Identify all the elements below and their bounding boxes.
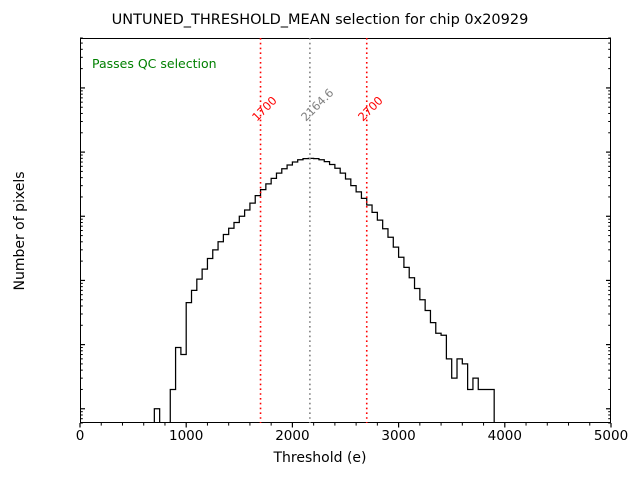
x-tick-label: 0 bbox=[76, 428, 85, 444]
x-tick-label: 5000 bbox=[594, 428, 628, 444]
qc-pass-annotation: Passes QC selection bbox=[92, 56, 217, 71]
chart-figure: UNTUNED_THRESHOLD_MEAN selection for chi… bbox=[0, 0, 640, 480]
histogram-svg bbox=[80, 38, 611, 423]
plot-area bbox=[80, 38, 611, 423]
x-tick-label: 4000 bbox=[488, 428, 522, 444]
histogram-step-line bbox=[154, 158, 494, 423]
x-tick-label: 2000 bbox=[275, 428, 309, 444]
x-tick-label: 1000 bbox=[169, 428, 203, 444]
x-axis-label: Threshold (e) bbox=[0, 450, 640, 466]
x-tick-label: 3000 bbox=[381, 428, 415, 444]
